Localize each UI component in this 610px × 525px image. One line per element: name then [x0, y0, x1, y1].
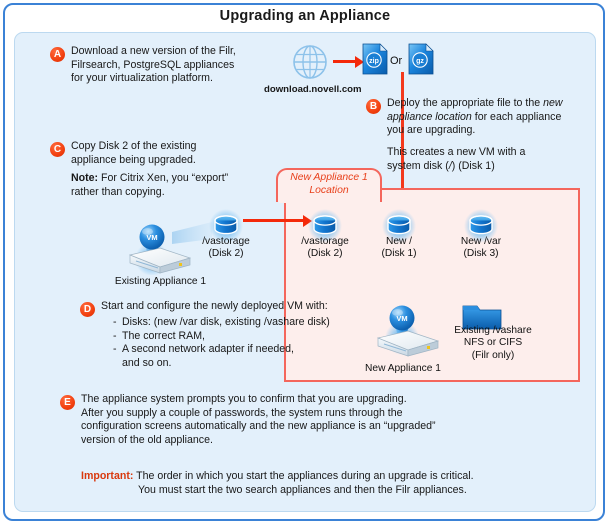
step-c-line-2: appliance being upgraded. — [71, 154, 196, 166]
step-d-bullet-0-text: Disks: (new /var disk, existing /vashare… — [122, 316, 330, 328]
important-line-2: You must start the two search appliances… — [138, 484, 467, 496]
step-a-line-2: Filrsearch, PostgreSQL appliances — [71, 59, 234, 71]
step-badge-d: D — [80, 302, 95, 317]
vashare-line-2: NFS or CIFS — [464, 337, 522, 348]
region-disk-caption-2: New /var (Disk 3) — [441, 236, 521, 261]
region-disk-1-line-2: (Disk 1) — [381, 248, 416, 259]
step-b-line-1: Deploy the appropriate file to the new — [387, 97, 563, 109]
region-disk-1-line-1: New / — [386, 236, 412, 247]
step-d-bullet-3-text: and so on. — [122, 357, 171, 369]
existing-vastorage-disk-caption: /vastorage (Disk 2) — [186, 236, 266, 261]
svg-text:gz: gz — [416, 58, 424, 65]
arrow-globe-to-zip-line — [333, 60, 357, 63]
region-disk-2-line-2: (Disk 3) — [463, 248, 498, 259]
step-a-text: Download a new version of the Filr, Filr… — [71, 45, 281, 86]
region-disk-0-line-1: /vastorage — [301, 236, 349, 247]
step-d-bullet-2-text: A second network adapter if needed, — [122, 343, 294, 355]
important-note: Important: The order in which you start … — [81, 470, 581, 497]
zip-file-icon: zip — [362, 43, 388, 75]
important-label: Important: — [81, 470, 133, 482]
step-d-bullet-1: - — [113, 330, 122, 342]
step-e-line-2: After you supply a couple of passwords, … — [81, 407, 403, 419]
region-disk-caption-1: New / (Disk 1) — [359, 236, 439, 261]
svg-text:VM: VM — [396, 314, 407, 323]
step-b-line-3: you are upgrading. — [387, 124, 475, 136]
svg-text:VM: VM — [146, 233, 157, 242]
step-a-line-1: Download a new version of the Filr, — [71, 45, 236, 57]
region-disk-caption-0: /vastorage (Disk 2) — [285, 236, 365, 261]
step-badge-e: E — [60, 395, 75, 410]
page-title: Upgrading an Appliance — [0, 8, 610, 24]
step-badge-c: C — [50, 142, 65, 157]
step-e-text: The appliance system prompts you to conf… — [81, 393, 581, 447]
arrow-copy-disk-line — [243, 219, 305, 222]
vashare-folder-caption: Existing /vashare NFS or CIFS (Filr only… — [430, 325, 556, 362]
step-b-text: Deploy the appropriate file to the new a… — [387, 97, 587, 138]
step-b-paragraph-2: This creates a new VM with a system disk… — [387, 146, 587, 173]
step-badge-a: A — [50, 47, 65, 62]
step-d-bullet-1-text: The correct RAM, — [122, 330, 205, 342]
step-c-text: Copy Disk 2 of the existing appliance be… — [71, 140, 291, 167]
step-b-p2-line-1: This creates a new VM with a — [387, 146, 525, 158]
region-tab-label: New Appliance 1 Location — [276, 172, 382, 197]
or-label: Or — [390, 55, 402, 67]
step-c-line-1: Copy Disk 2 of the existing — [71, 140, 196, 152]
important-line-1: The order in which you start the applian… — [136, 470, 473, 482]
step-b-line-2: appliance location for each appliance — [387, 111, 561, 123]
step-badge-b: B — [366, 99, 381, 114]
vashare-line-3: (Filr only) — [472, 350, 514, 361]
step-b-p2-line-2: system disk (/) (Disk 1) — [387, 160, 495, 172]
region-tab-line-2: Location — [309, 185, 348, 196]
globe-icon — [292, 44, 328, 80]
step-d-bullet-3 — [113, 357, 122, 369]
gz-file-icon: gz — [408, 43, 434, 75]
diagram-canvas: Upgrading an Appliance — [0, 0, 610, 525]
existing-disk-line-2: (Disk 2) — [208, 248, 243, 259]
step-a-line-3: for your virtualization platform. — [71, 72, 213, 84]
svg-text:zip: zip — [369, 58, 379, 65]
step-c-note-line-2: rather than copying. — [71, 186, 165, 198]
step-c-note-line-1: Note: For Citrix Xen, you “export” — [71, 172, 228, 184]
step-c-note: Note: For Citrix Xen, you “export” rathe… — [71, 172, 301, 199]
region-tab-mask — [279, 198, 379, 203]
step-d-bullet-2: - — [113, 343, 122, 355]
step-d-bullet-0: - — [113, 316, 122, 328]
region-tab-line-1: New Appliance 1 — [290, 172, 368, 183]
step-d-heading: Start and configure the newly deployed V… — [101, 300, 391, 314]
region-disk-2-line-1: New /var — [461, 236, 501, 247]
existing-appliance-caption: Existing Appliance 1 — [88, 276, 233, 288]
download-site-label: download.novell.com — [264, 83, 360, 97]
region-disk-0-line-2: (Disk 2) — [307, 248, 342, 259]
existing-disk-line-1: /vastorage — [202, 236, 250, 247]
step-d-bullets: -Disks: (new /var disk, existing /vashar… — [113, 316, 383, 370]
step-e-line-3: configuration screens automatically and … — [81, 420, 436, 432]
step-e-line-4: version of the old appliance. — [81, 434, 213, 446]
vashare-line-1: Existing /vashare — [454, 325, 532, 336]
step-e-line-1: The appliance system prompts you to conf… — [81, 393, 407, 405]
